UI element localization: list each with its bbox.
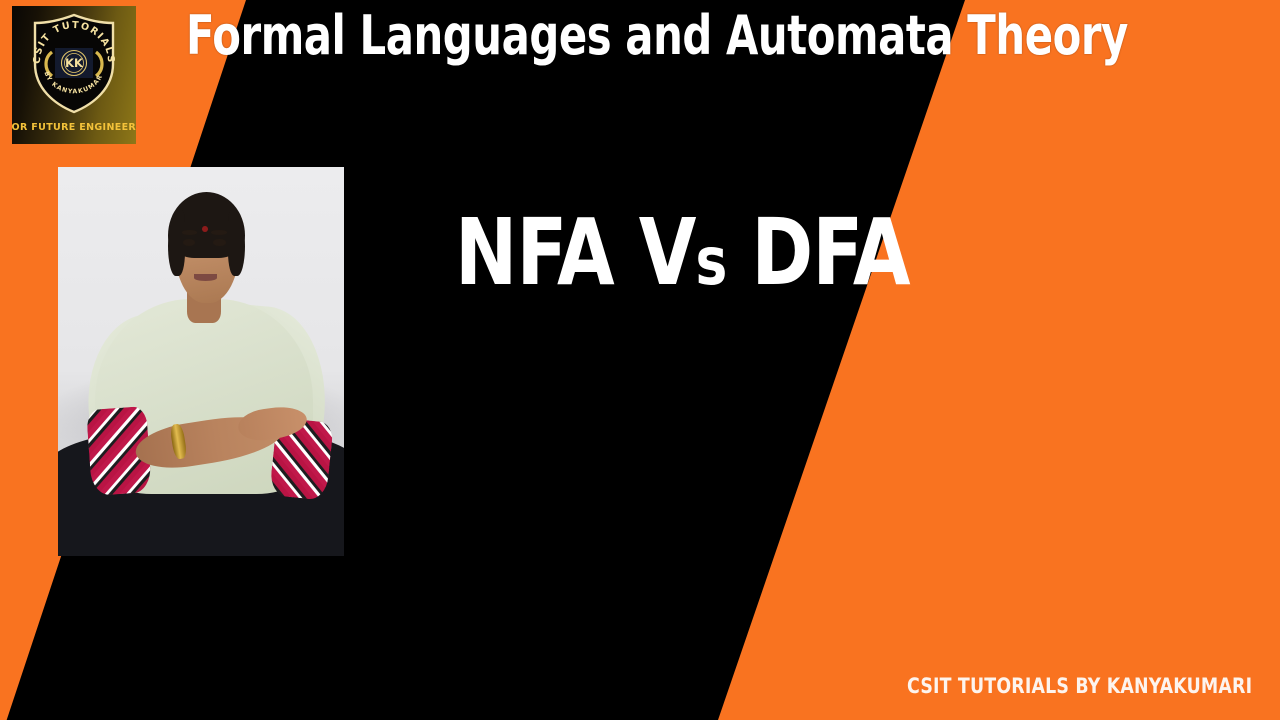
photo-eye-left bbox=[183, 239, 196, 246]
photo-eye-right bbox=[213, 239, 226, 246]
photo-eyebrow-right bbox=[211, 230, 226, 235]
logo-banner: FOR FUTURE ENGINEERS bbox=[12, 118, 136, 136]
main-heading-part2: DFA bbox=[726, 199, 909, 306]
photo-eyebrow-left bbox=[182, 230, 197, 235]
right-orange-wedge bbox=[718, 0, 1280, 720]
main-heading-small-s: s bbox=[695, 223, 726, 300]
channel-logo: CSIT TUTORIALS KK BY KANYAKUMARI FOR FUT… bbox=[12, 6, 136, 144]
course-title: Formal Languages and Automata Theory bbox=[186, 6, 1089, 66]
main-heading: NFA Vs DFA bbox=[455, 205, 910, 310]
video-thumbnail-slide: CSIT TUTORIALS KK BY KANYAKUMARI FOR FUT… bbox=[0, 0, 1280, 720]
logo-monogram: KK bbox=[65, 56, 84, 70]
main-heading-part1: NFA V bbox=[455, 199, 695, 306]
photo-bindi bbox=[202, 226, 208, 232]
channel-watermark: CSIT TUTORIALS BY KANYAKUMARI bbox=[907, 674, 1252, 698]
logo-shield-icon: CSIT TUTORIALS KK BY KANYAKUMARI bbox=[28, 12, 120, 116]
photo-mouth bbox=[194, 274, 217, 280]
presenter-photo bbox=[58, 167, 344, 556]
logo-banner-text: FOR FUTURE ENGINEERS bbox=[12, 122, 136, 133]
